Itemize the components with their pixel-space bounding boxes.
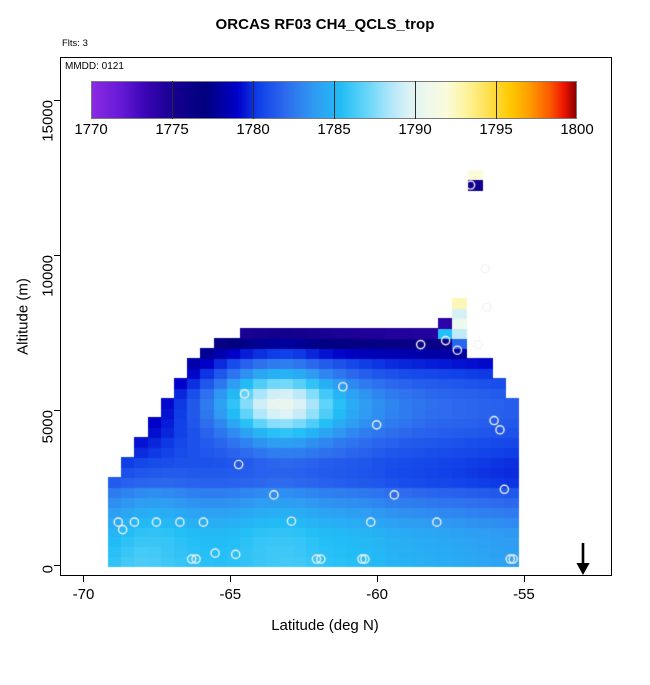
colorbar-tick-label: 1780	[236, 121, 269, 138]
colorbar-tick	[496, 81, 497, 119]
colorbar-tick-label: 1775	[155, 121, 188, 138]
plot-stage: ORCAS RF03 CH4_QCLS_trop Flts: 3 MMDD: 0…	[0, 0, 650, 650]
marker-arrow-icon	[573, 542, 593, 576]
x-axis-title: Latitude (deg N)	[0, 617, 650, 634]
colorbar-tick	[253, 81, 254, 119]
x-axis-tick-label: -60	[366, 586, 388, 603]
colorbar-tick-label: 1790	[398, 121, 431, 138]
x-axis-tick-label: -55	[513, 586, 535, 603]
y-axis-tick-label: 15000	[40, 100, 57, 220]
page-title: ORCAS RF03 CH4_QCLS_trop	[0, 16, 650, 33]
x-axis-tick-label: -70	[73, 586, 95, 603]
mmdd-annotation: MMDD: 0121	[65, 61, 124, 72]
y-axis-tick-label: 10000	[40, 255, 57, 375]
x-axis-tick-label: -65	[219, 586, 241, 603]
y-axis-title: Altitude (m)	[15, 197, 32, 437]
colorbar-tick	[172, 81, 173, 119]
colorbar-tick-label: 1795	[479, 121, 512, 138]
flight-count-annotation: Flts: 3	[62, 38, 88, 49]
colorbar-tick-label: 1770	[74, 121, 107, 138]
x-axis-tick	[377, 576, 378, 582]
x-axis-tick	[83, 576, 84, 582]
x-axis-tick	[524, 576, 525, 582]
y-axis-tick-label: 5000	[40, 410, 57, 530]
colorbar-tick	[334, 81, 335, 119]
colorbar-tick-label: 1785	[317, 121, 350, 138]
colorbar-tick	[415, 81, 416, 119]
colorbar[interactable]: 1770177517801785179017951800	[91, 81, 577, 119]
x-axis-tick	[230, 576, 231, 582]
colorbar-tick-label: 1800	[560, 121, 593, 138]
